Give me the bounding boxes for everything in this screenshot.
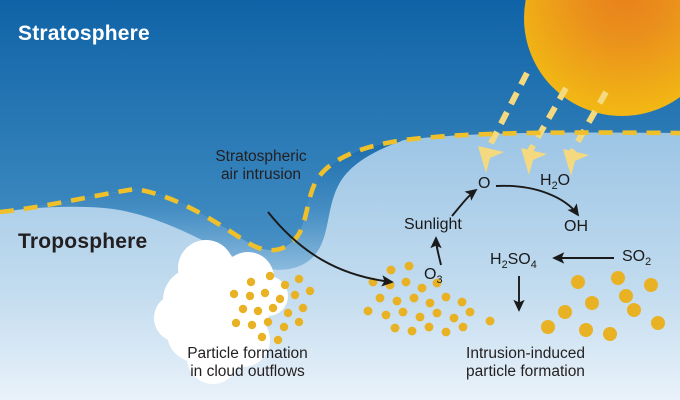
diagram-canvas: Stratosphere Troposphere Stratospheric a… — [0, 0, 680, 400]
diagram-svg — [0, 0, 680, 400]
